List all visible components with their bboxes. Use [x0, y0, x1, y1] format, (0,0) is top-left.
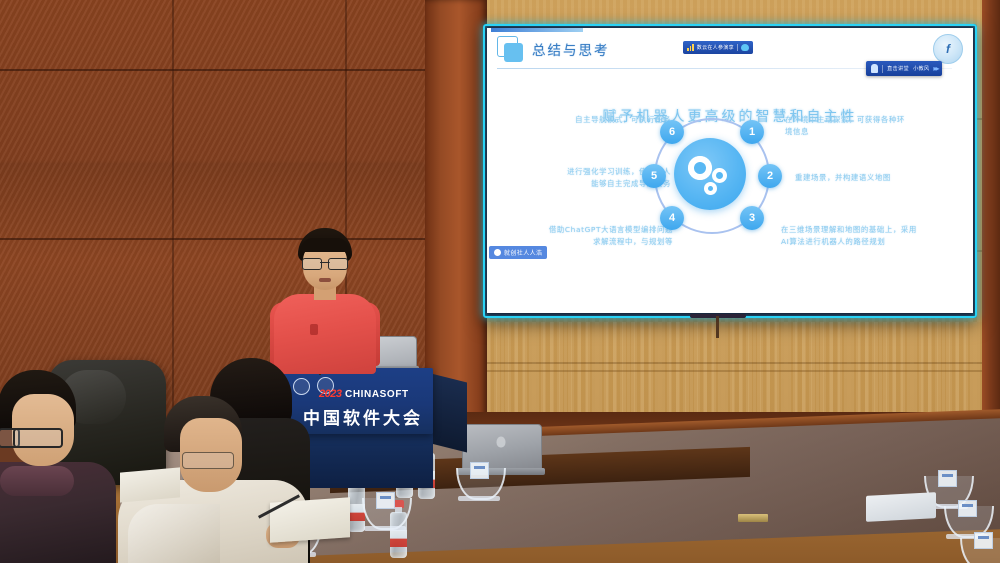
swirl-logo: f — [933, 34, 963, 64]
notepad — [866, 492, 936, 522]
broadcast-top-overlay[interactable]: 数云在人参演享 — [683, 41, 753, 54]
diagram-node-5: 5 — [642, 164, 666, 188]
name-card-holder — [456, 462, 502, 502]
podium-chinese-name: 中国软件大会 — [303, 404, 423, 429]
handout-pages — [120, 467, 180, 502]
wall-pillar — [425, 0, 487, 430]
diagram-node-2: 2 — [758, 164, 782, 188]
podium-year: 2023 — [319, 388, 341, 400]
diagram-node-1: 1 — [740, 120, 764, 144]
diagram-node-6: 6 — [660, 120, 684, 144]
record-dot-icon — [494, 249, 501, 256]
cloud-icon — [741, 44, 749, 51]
shirt-print — [310, 324, 318, 335]
slide-right-item-2: 重建场景，并构建语义地图 — [795, 172, 963, 184]
podium-english-name: CHINASOFT — [345, 389, 409, 400]
signal-bars-icon — [687, 44, 694, 51]
diagram-node-4: 4 — [660, 206, 684, 230]
broadcast-right-primary: 直击讲堂 — [887, 65, 909, 72]
slide-bottom-badge-label: 就创社人人浩 — [504, 248, 542, 257]
slide-left-item-1: 自主导航模式，可执行任务 — [511, 114, 671, 126]
name-card-holder — [362, 492, 408, 532]
slide-left-item-3: 借助ChatGPT大语言模型编排问题 求解流程中，与规划等 — [495, 224, 673, 248]
broadcast-right-secondary: 小教风 — [913, 65, 929, 72]
slide-header-label: 总结与思考 — [532, 39, 610, 59]
presenter-fringe — [301, 238, 349, 252]
attendee-left — [0, 370, 116, 563]
stacked-squares-icon — [497, 36, 523, 62]
double-chevron-icon[interactable]: ▸▸ — [933, 64, 937, 73]
microphone-icon — [871, 64, 878, 73]
slide-bottom-badge: 就创社人人浩 — [489, 246, 547, 259]
broadcast-right-overlay[interactable]: 直击讲堂 小教风 ▸▸ — [866, 61, 942, 76]
presenter-mouth — [319, 278, 331, 282]
circular-process-diagram: 1 2 3 4 5 6 — [648, 112, 772, 236]
diagram-node-3: 3 — [740, 206, 764, 230]
brass-name-plate — [738, 514, 768, 522]
slide-accent-bar — [491, 28, 583, 32]
slide-right-item-1: 在环境中主动探索，可获得各种环 境信息 — [785, 114, 957, 138]
apple-logo-icon — [497, 437, 506, 448]
presentation-scene: 总结与思考 f 赋予机器人更高级的智慧和自主性 自主导航模式，可执行任务 进行强… — [0, 0, 1000, 563]
broadcast-top-label: 数云在人参演享 — [697, 44, 734, 51]
name-card-holder — [960, 532, 1000, 563]
slide-header: 总结与思考 — [497, 36, 610, 62]
slide-right-item-3: 在三维场景理解和地图的基础上，采用 AI算法进行机器人的路径规划 — [781, 224, 963, 248]
presenter-glasses — [302, 258, 348, 268]
presenter — [270, 228, 380, 373]
podium-side — [431, 374, 467, 453]
